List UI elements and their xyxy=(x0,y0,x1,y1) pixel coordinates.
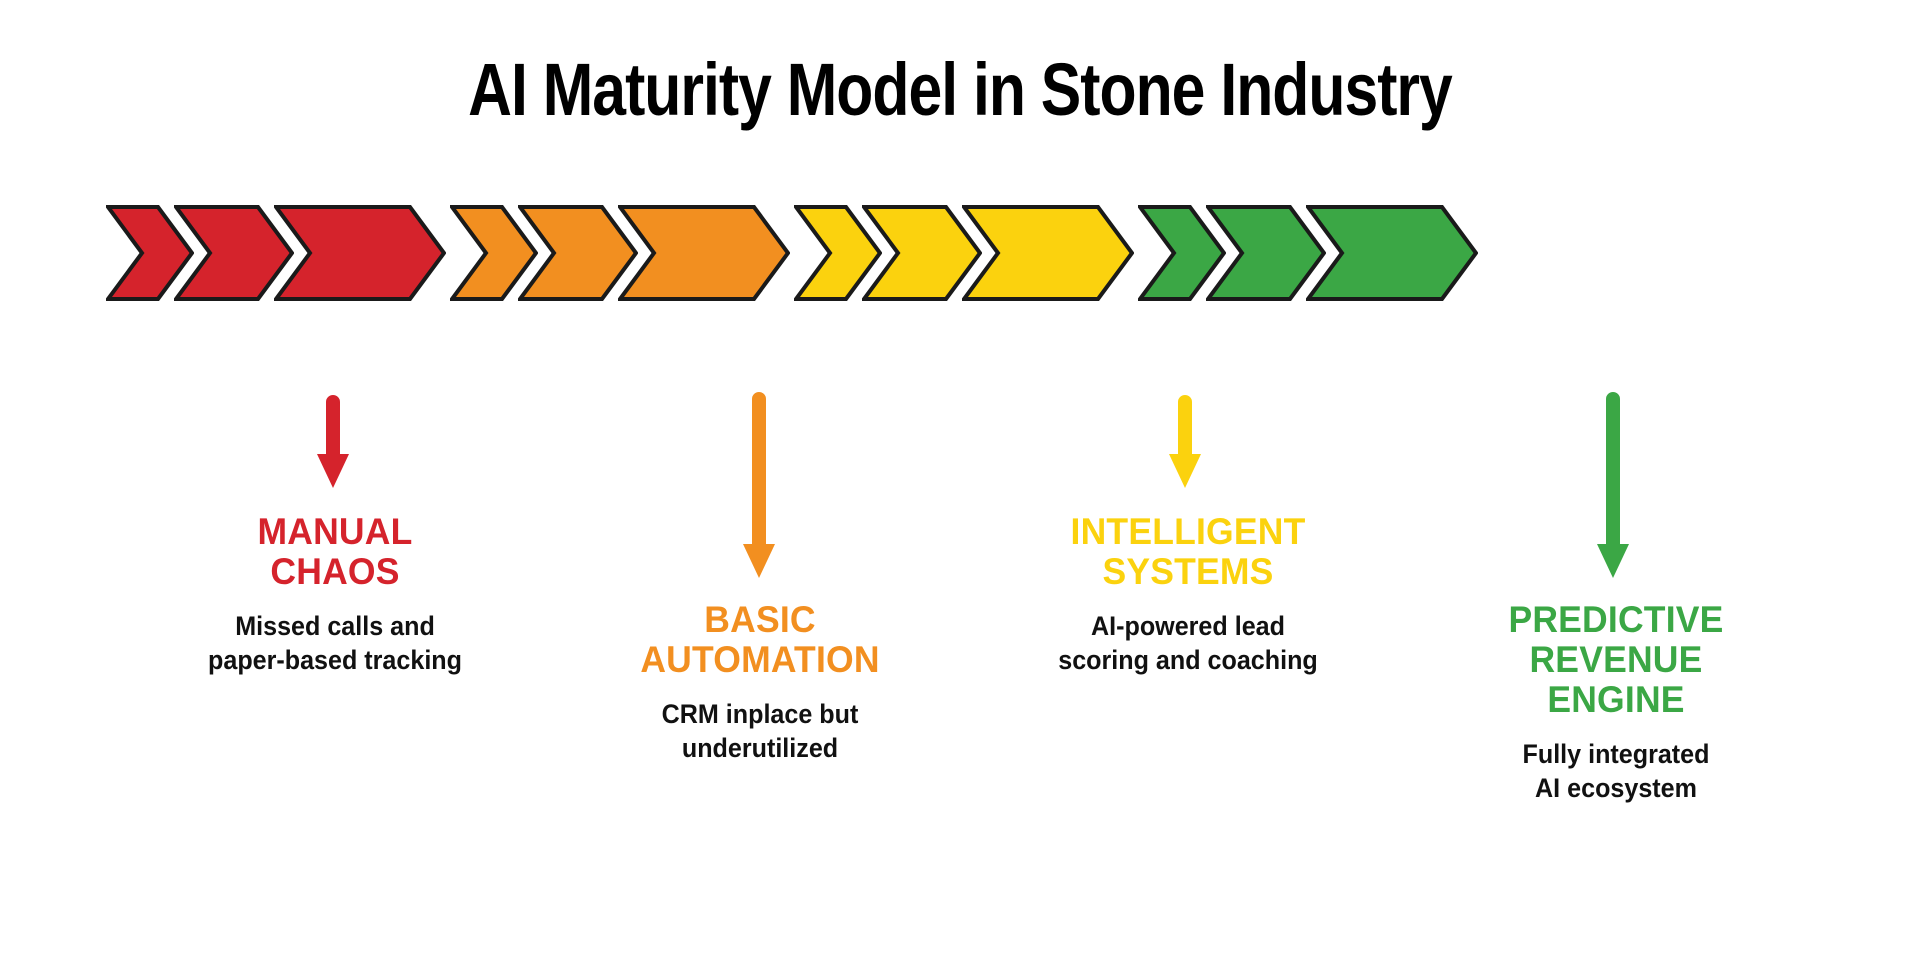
stage-text-predictive-revenue-engine: PREDICTIVE REVENUE ENGINE Fully integrat… xyxy=(1436,600,1796,805)
chevron-band xyxy=(0,200,1920,308)
stage-text-basic-automation: BASIC AUTOMATION CRM inplace but underut… xyxy=(580,600,940,765)
chevron-right-icon xyxy=(274,205,446,301)
infographic-canvas: AI Maturity Model in Stone Industry xyxy=(0,0,1920,960)
chevron-right-icon xyxy=(618,205,790,301)
stage-chevrons-intelligent-systems xyxy=(794,200,1134,308)
stage-label-intelligent-systems: INTELLIGENT SYSTEMS xyxy=(1015,512,1361,592)
arrow-down-icon xyxy=(1596,392,1630,582)
page-title: AI Maturity Model in Stone Industry xyxy=(173,48,1747,132)
arrow-down-icon xyxy=(742,392,776,582)
arrow-down-icon xyxy=(316,392,350,492)
stage-label-predictive-revenue-engine: PREDICTIVE REVENUE ENGINE xyxy=(1443,600,1789,720)
stage-text-intelligent-systems: INTELLIGENT SYSTEMS AI-powered lead scor… xyxy=(1008,512,1368,677)
stage-description-intelligent-systems: AI-powered lead scoring and coaching xyxy=(1021,609,1356,677)
stage-chevrons-predictive-revenue-engine xyxy=(1138,200,1478,308)
arrow-down-icon xyxy=(1168,392,1202,492)
stage-label-manual-chaos: MANUAL CHAOS xyxy=(162,512,508,592)
stage-chevrons-manual-chaos xyxy=(106,200,446,308)
chevron-right-icon xyxy=(962,205,1134,301)
chevron-right-icon xyxy=(1306,205,1478,301)
stage-text-manual-chaos: MANUAL CHAOS Missed calls and paper-base… xyxy=(155,512,515,677)
stage-description-predictive-revenue-engine: Fully integrated AI ecosystem xyxy=(1449,737,1784,805)
stage-description-basic-automation: CRM inplace but underutilized xyxy=(593,697,928,765)
stage-description-manual-chaos: Missed calls and paper-based tracking xyxy=(168,609,503,677)
stage-chevrons-basic-automation xyxy=(450,200,790,308)
stage-label-basic-automation: BASIC AUTOMATION xyxy=(587,600,933,680)
